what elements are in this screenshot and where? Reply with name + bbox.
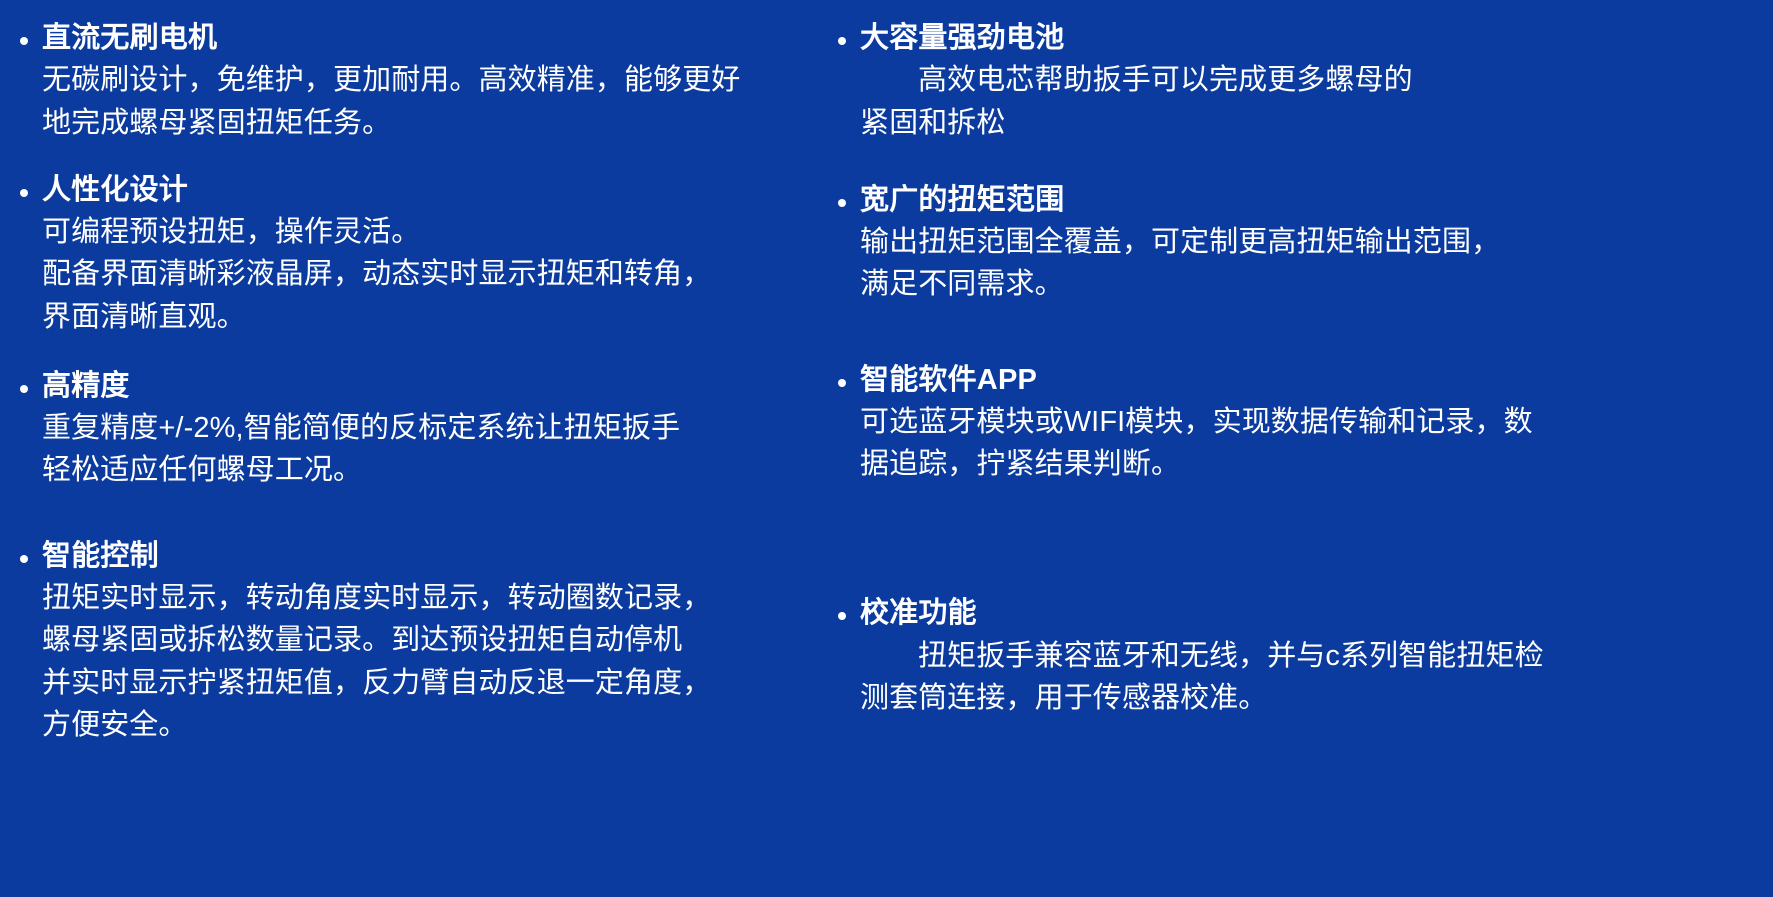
feature-item: 宽广的扭矩范围 输出扭矩范围全覆盖，可定制更高扭矩输出范围， 满足不同需求。	[838, 180, 1773, 306]
feature-title: 智能控制	[42, 536, 159, 577]
bullet-icon	[20, 170, 42, 197]
left-feature-column: 直流无刷电机 无碳刷设计，免维护，更加耐用。高效精准，能够更好 地完成螺母紧固扭…	[0, 0, 830, 746]
feature-description: 可编程预设扭矩，操作灵活。 配备界面清晰彩液晶屏，动态实时显示扭矩和转角， 界面…	[20, 211, 830, 338]
feature-heading-row: 高精度	[20, 366, 830, 407]
feature-title: 校准功能	[860, 593, 977, 634]
feature-item: 智能软件APP 可选蓝牙模块或WIFI模块，实现数据传输和记录，数 据追踪，拧紧…	[838, 360, 1773, 486]
feature-title: 直流无刷电机	[42, 18, 217, 59]
feature-item: 高精度 重复精度+/-2%,智能简便的反标定系统让扭矩扳手 轻松适应任何螺母工况…	[20, 366, 830, 492]
feature-item: 人性化设计 可编程预设扭矩，操作灵活。 配备界面清晰彩液晶屏，动态实时显示扭矩和…	[20, 170, 830, 338]
feature-description: 扭矩实时显示，转动角度实时显示，转动圈数记录， 螺母紧固或拆松数量记录。到达预设…	[20, 577, 830, 746]
feature-heading-row: 直流无刷电机	[20, 18, 830, 59]
bullet-icon	[20, 536, 42, 563]
bullet-icon	[838, 180, 860, 207]
feature-heading-row: 校准功能	[838, 593, 1773, 634]
feature-description: 高效电芯帮助扳手可以完成更多螺母的 紧固和拆松	[838, 59, 1773, 144]
feature-title: 高精度	[42, 366, 130, 407]
feature-heading-row: 智能软件APP	[838, 360, 1773, 401]
feature-description: 输出扭矩范围全覆盖，可定制更高扭矩输出范围， 满足不同需求。	[838, 221, 1773, 306]
feature-item: 校准功能 扭矩扳手兼容蓝牙和无线，并与c系列智能扭矩检 测套筒连接，用于传感器校…	[838, 593, 1773, 719]
feature-title: 大容量强劲电池	[860, 18, 1064, 59]
feature-item: 直流无刷电机 无碳刷设计，免维护，更加耐用。高效精准，能够更好 地完成螺母紧固扭…	[20, 18, 830, 144]
feature-item: 大容量强劲电池 高效电芯帮助扳手可以完成更多螺母的 紧固和拆松	[838, 18, 1773, 144]
feature-description: 扭矩扳手兼容蓝牙和无线，并与c系列智能扭矩检 测套筒连接，用于传感器校准。	[838, 635, 1773, 720]
feature-title: 人性化设计	[42, 170, 188, 211]
bullet-icon	[838, 360, 860, 387]
feature-heading-row: 人性化设计	[20, 170, 830, 211]
feature-description-text: 高效电芯帮助扳手可以完成更多螺母的 紧固和拆松	[860, 64, 1413, 138]
feature-description: 重复精度+/-2%,智能简便的反标定系统让扭矩扳手 轻松适应任何螺母工况。	[20, 407, 830, 492]
feature-description: 可选蓝牙模块或WIFI模块，实现数据传输和记录，数 据追踪，拧紧结果判断。	[838, 401, 1773, 486]
feature-heading-row: 大容量强劲电池	[838, 18, 1773, 59]
feature-slide: 直流无刷电机 无碳刷设计，免维护，更加耐用。高效精准，能够更好 地完成螺母紧固扭…	[0, 0, 1773, 897]
feature-description: 无碳刷设计，免维护，更加耐用。高效精准，能够更好 地完成螺母紧固扭矩任务。	[20, 59, 830, 144]
feature-description-text: 扭矩扳手兼容蓝牙和无线，并与c系列智能扭矩检 测套筒连接，用于传感器校准。	[860, 640, 1544, 714]
bullet-icon	[838, 18, 860, 45]
bullet-icon	[20, 18, 42, 45]
feature-heading-row: 宽广的扭矩范围	[838, 180, 1773, 221]
right-feature-column: 大容量强劲电池 高效电芯帮助扳手可以完成更多螺母的 紧固和拆松 宽广的扭矩范围 …	[838, 0, 1773, 719]
feature-heading-row: 智能控制	[20, 536, 830, 577]
bullet-icon	[20, 366, 42, 393]
feature-title: 智能软件APP	[860, 360, 1037, 401]
feature-item: 智能控制 扭矩实时显示，转动角度实时显示，转动圈数记录， 螺母紧固或拆松数量记录…	[20, 536, 830, 746]
bullet-icon	[838, 593, 860, 620]
feature-title: 宽广的扭矩范围	[860, 180, 1064, 221]
